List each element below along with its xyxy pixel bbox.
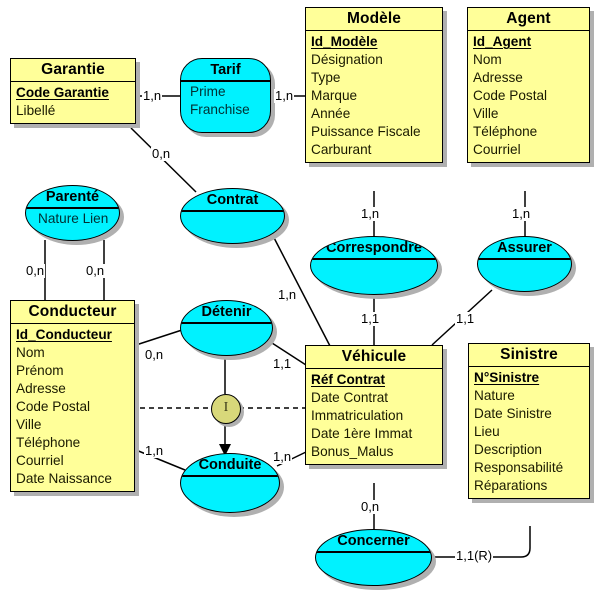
relationship-assurer[interactable]: Assurer [477,236,572,292]
cardinality-garantie-contrat: 0,n [151,147,171,161]
entity-garantie[interactable]: Garantie Code Garantie Libellé [10,58,136,124]
relationship-correspondre[interactable]: Correspondre [310,236,438,295]
relationship-conduite-title: Conduite [181,454,279,473]
attribute-agent-courriel: Courriel [473,141,589,159]
relationship-conduite[interactable]: Conduite [180,453,280,513]
attribute-bonus-malus: Bonus_Malus [311,443,442,461]
attribute-date-contrat: Date Contrat [311,389,442,407]
cardinality-conducteur-conduite: 1,n [144,444,164,458]
relationship-detenir-title: Détenir [181,301,272,320]
attribute-nature-lien: Nature Lien [38,210,119,228]
relationship-contrat-title: Contrat [181,189,284,208]
cardinality-assurer-vehicule: 1,1 [455,312,475,326]
attribute-conducteur-prenom: Prénom [16,362,134,380]
entity-conducteur-attributes: Id_Conducteur Nom Prénom Adresse Code Po… [11,324,134,491]
attribute-date-1ere-immat: Date 1ère Immat [311,425,442,443]
relationship-assurer-divider [478,258,571,260]
attribute-puissance-fiscale: Puissance Fiscale [311,123,442,141]
entity-modele[interactable]: Modèle Id_Modèle Désignation Type Marque… [305,7,443,163]
attribute-agent-code-postal: Code Postal [473,87,589,105]
entity-vehicule[interactable]: Véhicule Réf Contrat Date Contrat Immatr… [305,345,443,465]
attribute-ref-contrat: Réf Contrat [311,371,442,389]
cardinality-detenir-vehicule: 1,1 [272,357,292,371]
line-conducteur-detenir [136,330,182,345]
entity-garantie-attributes: Code Garantie Libellé [11,82,135,123]
attribute-conducteur-ville: Ville [16,416,134,434]
attribute-libelle: Libellé [16,102,135,120]
attribute-agent-ville: Ville [473,105,589,123]
relationship-detenir-divider [181,322,272,324]
attribute-conducteur-telephone: Téléphone [16,434,134,452]
relationship-contrat[interactable]: Contrat [180,188,285,244]
entity-conducteur[interactable]: Conducteur Id_Conducteur Nom Prénom Adre… [10,300,135,492]
relationship-tarif-attributes: Prime Franchise [181,82,270,119]
cardinality-vehicule-concerner: 0,n [360,500,380,514]
cardinality-parente-left: 0,n [25,264,45,278]
relationship-parente-attributes: Nature Lien [26,209,119,228]
attribute-responsabilite: Responsabilité [474,459,589,477]
cardinality-garantie-tarif: 1,n [142,89,162,103]
relationship-detenir[interactable]: Détenir [180,300,273,356]
cardinality-modele-correspondre: 1,n [360,207,380,221]
attribute-reparations: Réparations [474,477,589,495]
entity-sinistre[interactable]: Sinistre N°Sinistre Nature Date Sinistre… [468,343,590,499]
entity-garantie-title: Garantie [11,59,135,82]
relationship-tarif[interactable]: Tarif Prime Franchise [180,58,271,133]
attribute-agent-nom: Nom [473,51,589,69]
attribute-conducteur-courriel: Courriel [16,452,134,470]
attribute-sinistre-nature: Nature [474,387,589,405]
relationship-parente[interactable]: Parenté Nature Lien [25,185,120,241]
attribute-date-naissance: Date Naissance [16,470,134,488]
relationship-conduite-divider [181,475,279,477]
entity-sinistre-attributes: N°Sinistre Nature Date Sinistre Lieu Des… [469,367,589,498]
relationship-concerner[interactable]: Concerner [315,529,432,586]
relationship-correspondre-divider [311,258,437,260]
cardinality-correspondre-vehicule: 1,1 [360,312,380,326]
attribute-prime: Prime [190,83,270,101]
cardinality-conducteur-detenir: 0,n [144,348,164,362]
attribute-type: Type [311,69,442,87]
entity-agent[interactable]: Agent Id_Agent Nom Adresse Code Postal V… [467,7,590,163]
attribute-id-modele: Id_Modèle [311,33,442,51]
cardinality-concerner-sinistre: 1,1(R) [455,549,493,563]
entity-vehicule-attributes: Réf Contrat Date Contrat Immatriculation… [306,369,442,464]
cardinality-contrat-vehicule: 1,n [277,288,297,302]
relationship-tarif-title: Tarif [181,59,270,78]
attribute-id-conducteur: Id_Conducteur [16,326,134,344]
relationship-concerner-title: Concerner [316,530,431,549]
attribute-designation: Désignation [311,51,442,69]
relationship-assurer-title: Assurer [478,237,571,256]
entity-agent-attributes: Id_Agent Nom Adresse Code Postal Ville T… [468,31,589,162]
entity-vehicule-title: Véhicule [306,346,442,369]
attribute-code-garantie: Code Garantie [16,84,135,102]
entity-conducteur-title: Conducteur [11,301,134,324]
attribute-immatriculation: Immatriculation [311,407,442,425]
entity-modele-attributes: Id_Modèle Désignation Type Marque Année … [306,31,442,162]
attribute-conducteur-code-postal: Code Postal [16,398,134,416]
attribute-date-sinistre: Date Sinistre [474,405,589,423]
attribute-annee: Année [311,105,442,123]
er-diagram-canvas: Garantie Code Garantie Libellé Modèle Id… [0,0,600,600]
attribute-id-agent: Id_Agent [473,33,589,51]
attribute-agent-telephone: Téléphone [473,123,589,141]
inheritance-node-i[interactable]: I [211,394,241,424]
attribute-carburant: Carburant [311,141,442,159]
cardinality-agent-assurer: 1,n [511,207,531,221]
attribute-marque: Marque [311,87,442,105]
relationship-parente-title: Parenté [26,186,119,205]
entity-modele-title: Modèle [306,8,442,31]
attribute-conducteur-nom: Nom [16,344,134,362]
attribute-franchise: Franchise [190,101,270,119]
cardinality-tarif-modele: 1,n [274,89,294,103]
attribute-agent-adresse: Adresse [473,69,589,87]
attribute-conducteur-adresse: Adresse [16,380,134,398]
attribute-lieu: Lieu [474,423,589,441]
relationship-correspondre-title: Correspondre [311,237,437,256]
attribute-num-sinistre: N°Sinistre [474,369,589,387]
entity-agent-title: Agent [468,8,589,31]
cardinality-parente-right: 0,n [85,264,105,278]
relationship-concerner-divider [316,551,431,553]
cardinality-conduite-vehicule: 1,n [272,450,292,464]
attribute-description: Description [474,441,589,459]
entity-sinistre-title: Sinistre [469,344,589,367]
relationship-contrat-divider [181,210,284,212]
